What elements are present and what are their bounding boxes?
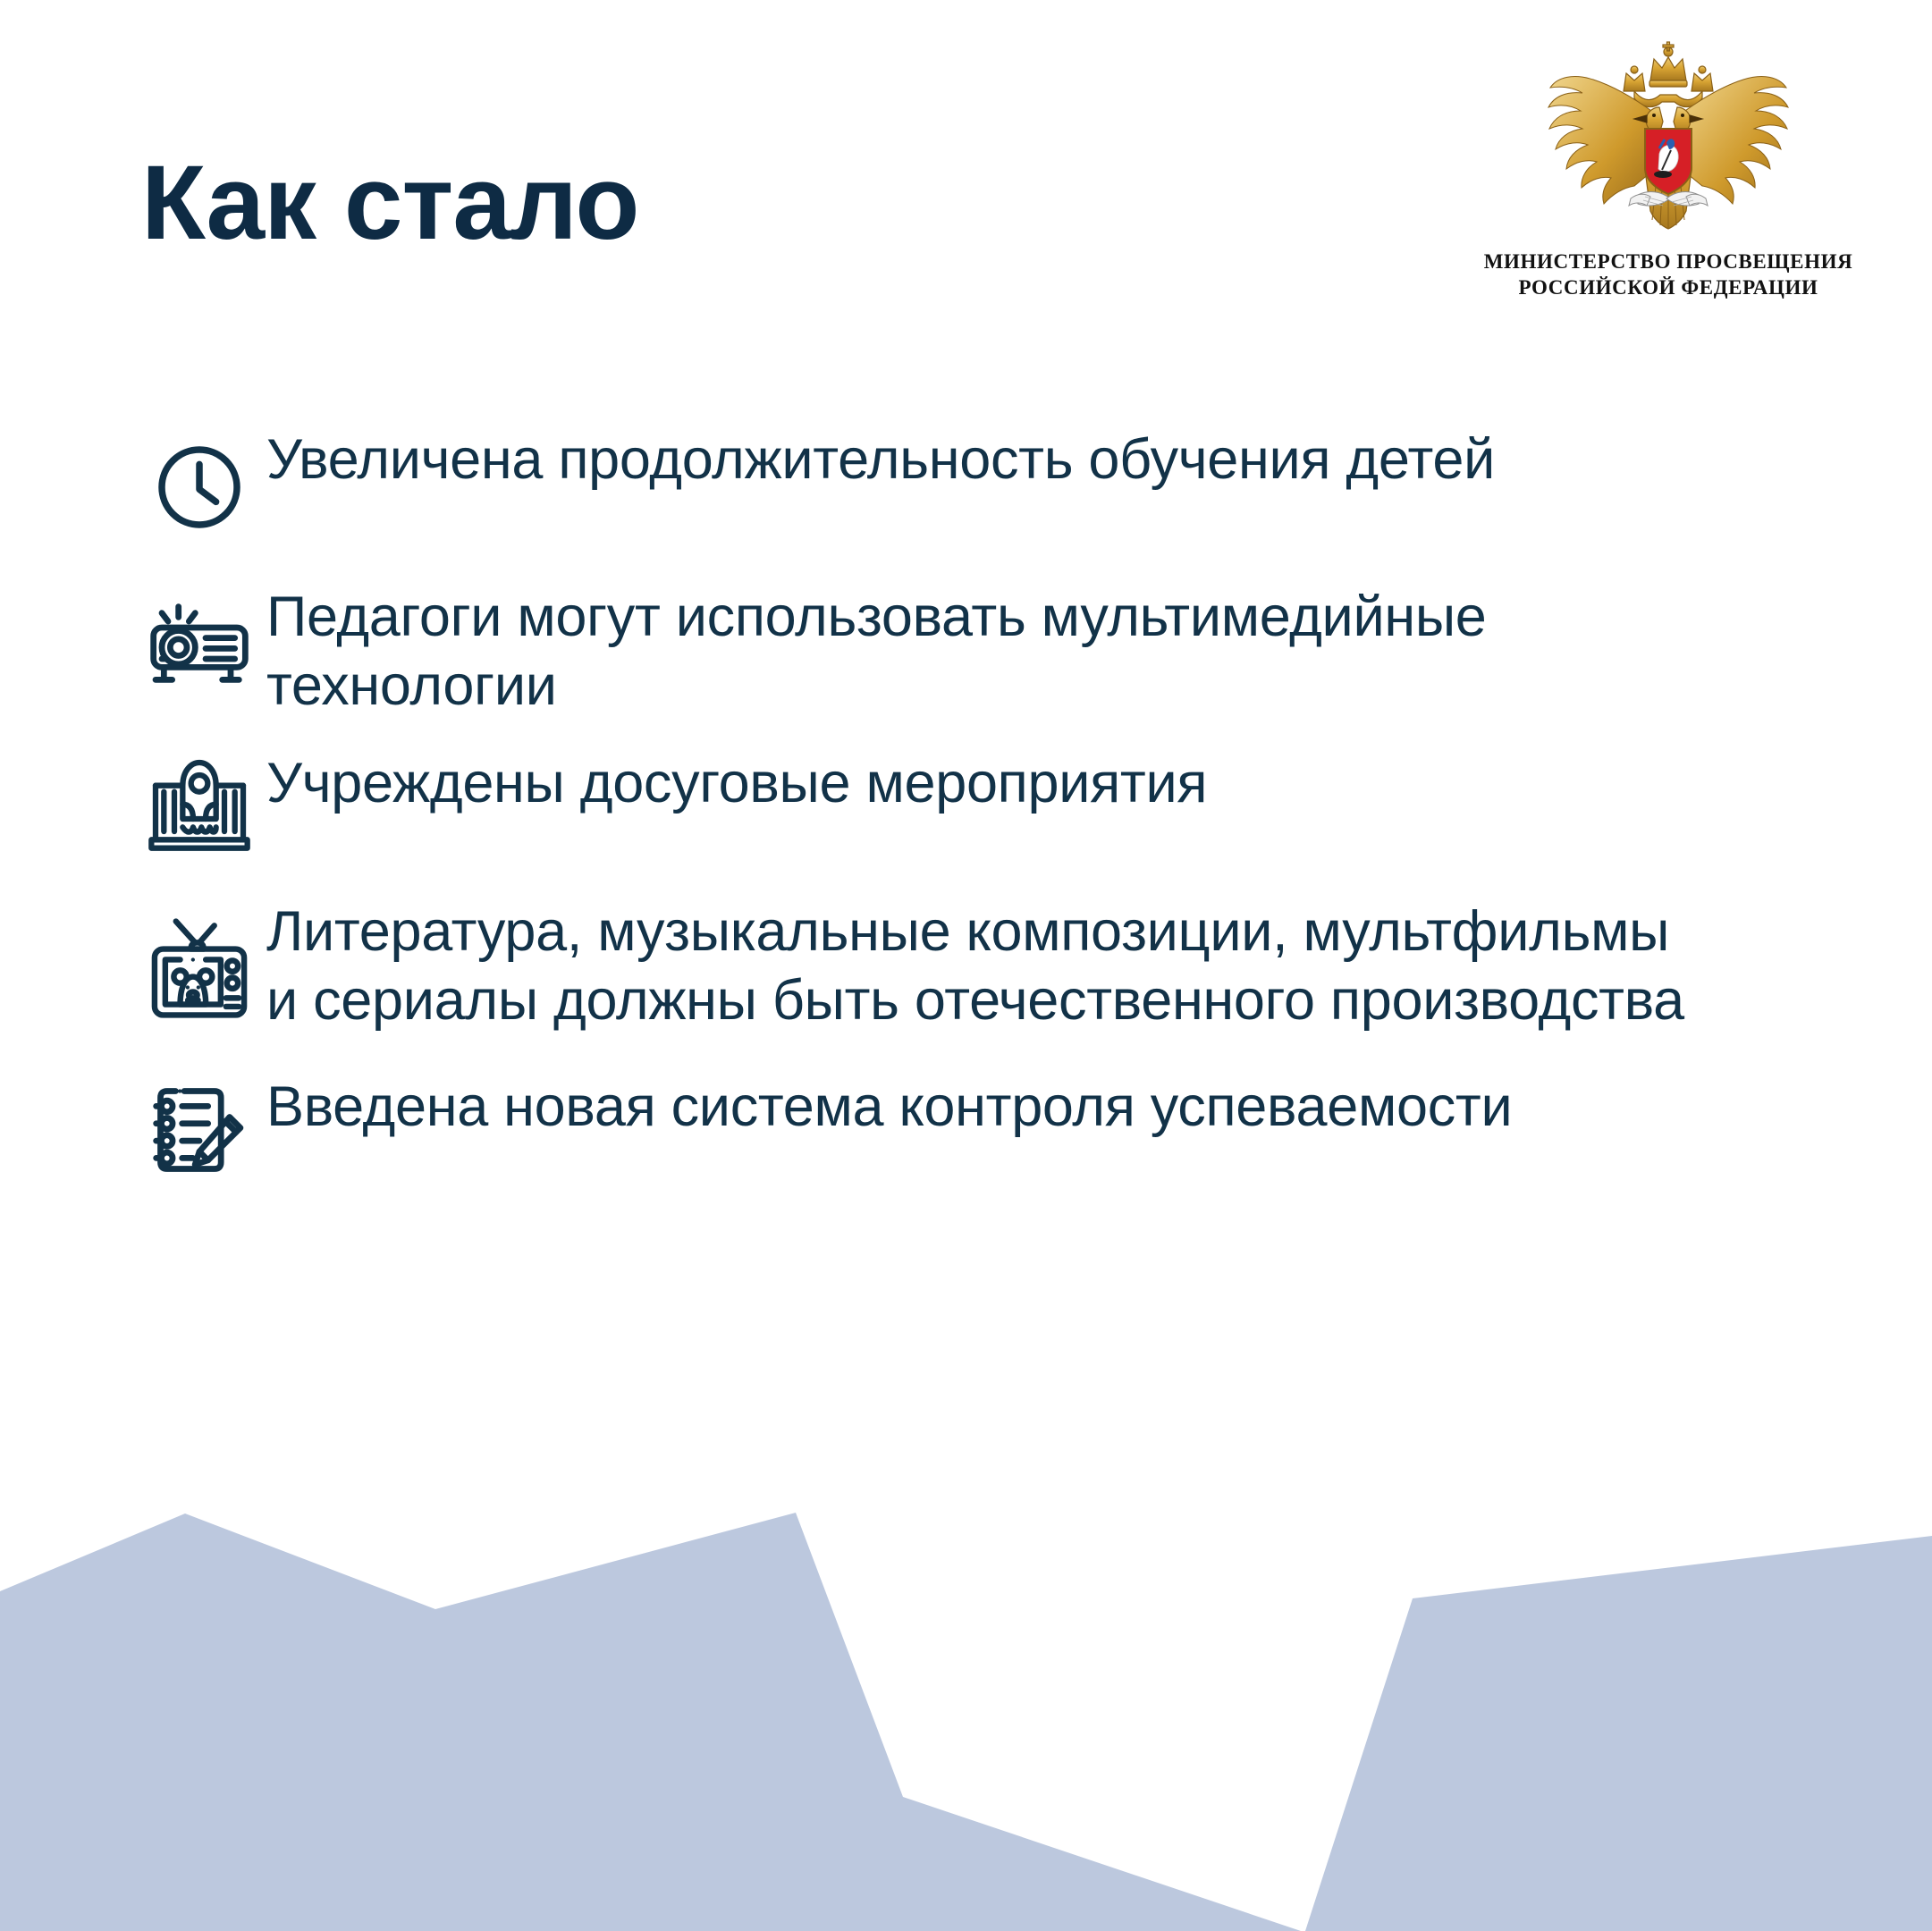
russian-federation-double-headed-eagle-emblem bbox=[1534, 36, 1802, 241]
list-item-label: Педагоги могут использовать мультимедийн… bbox=[266, 578, 1688, 721]
slide-root: МИНИСТЕРСТВО ПРОСВЕЩЕНИЯ РОССИЙСКОЙ ФЕДЕ… bbox=[0, 0, 1932, 1931]
list-item-label: Введена новая система контроля успеваемо… bbox=[266, 1067, 1688, 1142]
list-item: Увеличена продолжительность обучения дет… bbox=[132, 420, 1688, 554]
projector-icon bbox=[132, 578, 266, 703]
list-item: Педагоги могут использовать мультимедийн… bbox=[132, 578, 1688, 721]
list-item: Литература, музыкальные композиции, муль… bbox=[132, 892, 1688, 1044]
list-item: Учреждены досуговые мероприятия bbox=[132, 744, 1688, 869]
list-item-label: Учреждены досуговые мероприятия bbox=[266, 744, 1688, 818]
decoration-shape-left bbox=[0, 1513, 1301, 1931]
notepad-pencil-icon bbox=[132, 1067, 266, 1193]
television-icon bbox=[132, 892, 266, 1044]
decoration-shape-right bbox=[1305, 1536, 1932, 1931]
emblem-caption: МИНИСТЕРСТВО ПРОСВЕЩЕНИЯ РОССИЙСКОЙ ФЕДЕ… bbox=[1476, 249, 1860, 301]
theater-stage-icon bbox=[132, 744, 266, 869]
ministry-emblem-block: МИНИСТЕРСТВО ПРОСВЕЩЕНИЯ РОССИЙСКОЙ ФЕДЕ… bbox=[1476, 36, 1860, 301]
list-item: Введена новая система контроля успеваемо… bbox=[132, 1067, 1688, 1193]
list-item-label: Литература, музыкальные композиции, муль… bbox=[266, 892, 1688, 1035]
emblem-image-wrap bbox=[1476, 36, 1860, 241]
feature-list: Увеличена продолжительность обучения дет… bbox=[132, 420, 1688, 1216]
list-item-label: Увеличена продолжительность обучения дет… bbox=[266, 420, 1688, 494]
clock-icon bbox=[132, 420, 266, 554]
page-title: Как стало bbox=[141, 150, 638, 256]
